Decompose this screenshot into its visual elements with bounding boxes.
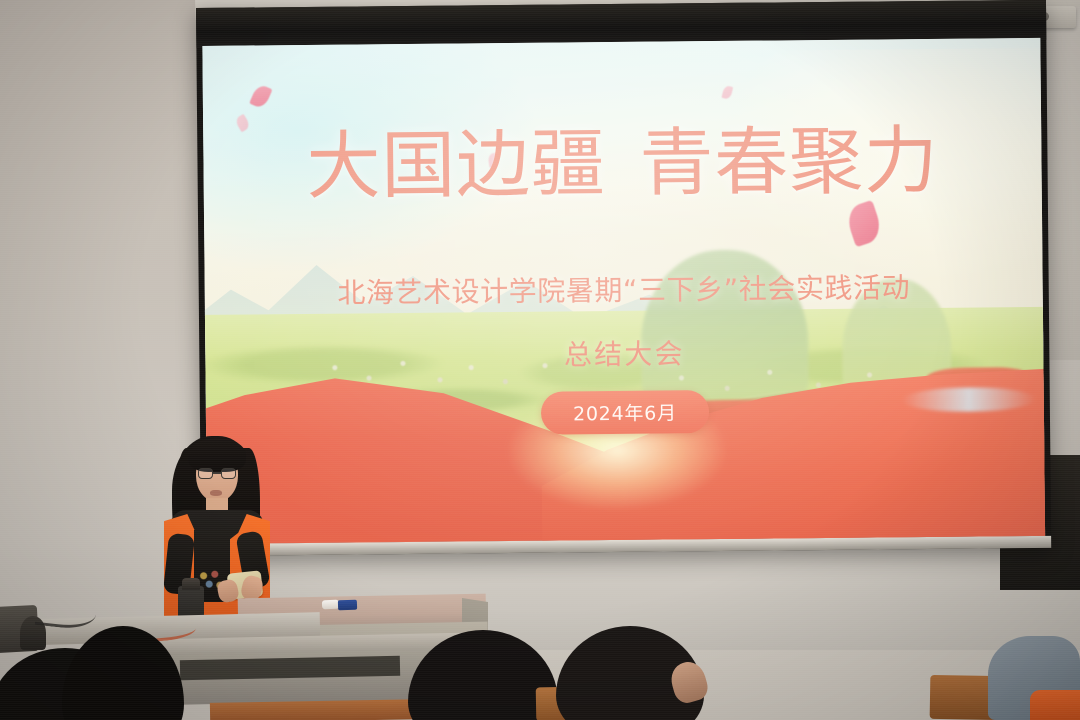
presenter-mouth [210, 490, 222, 496]
slide-subtitle: 北海艺术设计学院暑期“三下乡”社会实践活动 [205, 264, 1043, 312]
whiteboard-marker [322, 600, 339, 610]
presentation-slide: 大国边疆青春聚力 北海艺术设计学院暑期“三下乡”社会实践活动 总结大会 2024… [202, 38, 1045, 544]
audience-person-right-vest [1030, 690, 1080, 720]
slide-text-layer: 大国边疆青春聚力 北海艺术设计学院暑期“三下乡”社会实践活动 总结大会 2024… [202, 38, 1045, 544]
slide-title: 大国边疆青春聚力 [203, 123, 1042, 205]
slide-title-part1: 大国边疆 [306, 121, 606, 210]
slide-date-badge: 2024年6月 [541, 390, 709, 435]
blue-clicker [338, 600, 357, 611]
screenshot-root: 大国边疆青春聚力 北海艺术设计学院暑期“三下乡”社会实践活动 总结大会 2024… [0, 0, 1080, 720]
slide-title-part2: 青春聚力 [639, 118, 939, 207]
presenter-hair-front [188, 438, 246, 472]
microphone-icon [182, 578, 200, 590]
screen-surface: 大国边疆青春聚力 北海艺术设计学院暑期“三下乡”社会实践活动 总结大会 2024… [202, 38, 1045, 544]
eyeglasses-icon [198, 468, 236, 479]
projection-screen: 大国边疆青春聚力 北海艺术设计学院暑期“三下乡”社会实践活动 总结大会 2024… [196, 0, 1051, 556]
slide-subtitle-line2: 总结大会 [205, 329, 1043, 377]
